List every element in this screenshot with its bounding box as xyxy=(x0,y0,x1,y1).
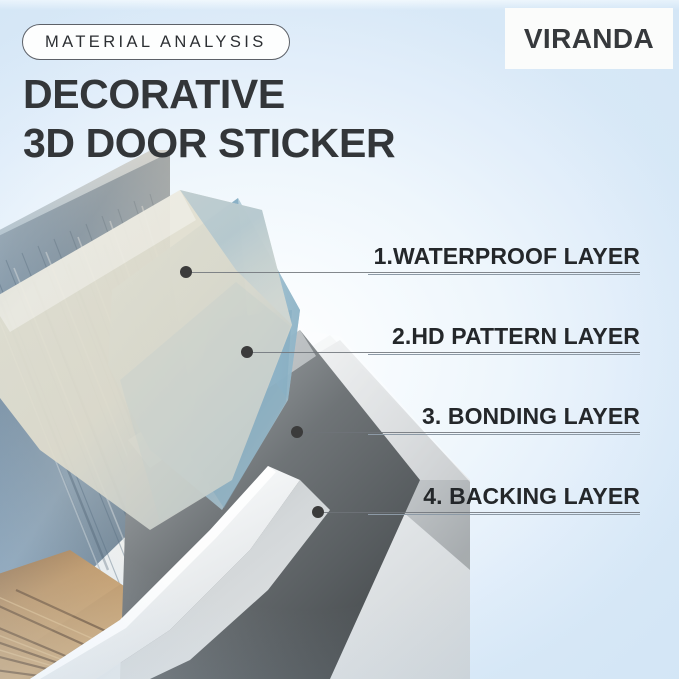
brand-logo: VIRANDA xyxy=(505,8,673,69)
layer-callout-2-rule xyxy=(368,354,640,355)
layer-callout-1: 1.WATERPROOF LAYER xyxy=(368,243,640,275)
brand-name: VIRANDA xyxy=(524,23,654,55)
layer-callout-2-text: 2.HD PATTERN LAYER xyxy=(392,323,640,349)
layer-callout-3-rule xyxy=(368,434,640,435)
layer-callout-4-rule xyxy=(368,514,640,515)
layer-callout-3-text: 3. BONDING LAYER xyxy=(422,403,640,429)
title-line-2: 3D DOOR STICKER xyxy=(23,119,395,168)
leader-line-2 xyxy=(251,352,640,353)
callout-dot-4 xyxy=(312,506,324,518)
callout-dot-3 xyxy=(291,426,303,438)
callout-dot-1 xyxy=(180,266,192,278)
leader-line-3 xyxy=(301,432,640,433)
layer-callout-4-text: 4. BACKING LAYER xyxy=(423,483,640,509)
layer-callout-1-rule xyxy=(368,274,640,275)
badge-label: MATERIAL ANALYSIS xyxy=(45,33,267,52)
poster-canvas: MATERIAL ANALYSIS DECORATIVE 3D DOOR STI… xyxy=(0,0,679,679)
material-analysis-badge: MATERIAL ANALYSIS xyxy=(22,24,290,60)
page-title: DECORATIVE 3D DOOR STICKER xyxy=(23,70,395,168)
layer-callout-3: 3. BONDING LAYER xyxy=(368,403,640,435)
layer-callout-2: 2.HD PATTERN LAYER xyxy=(368,323,640,355)
leader-line-1 xyxy=(190,272,640,273)
leader-line-4 xyxy=(322,512,640,513)
callout-dot-2 xyxy=(241,346,253,358)
title-line-1: DECORATIVE xyxy=(23,71,285,117)
layer-callout-1-text: 1.WATERPROOF LAYER xyxy=(374,243,640,269)
layer-callout-4: 4. BACKING LAYER xyxy=(368,483,640,515)
